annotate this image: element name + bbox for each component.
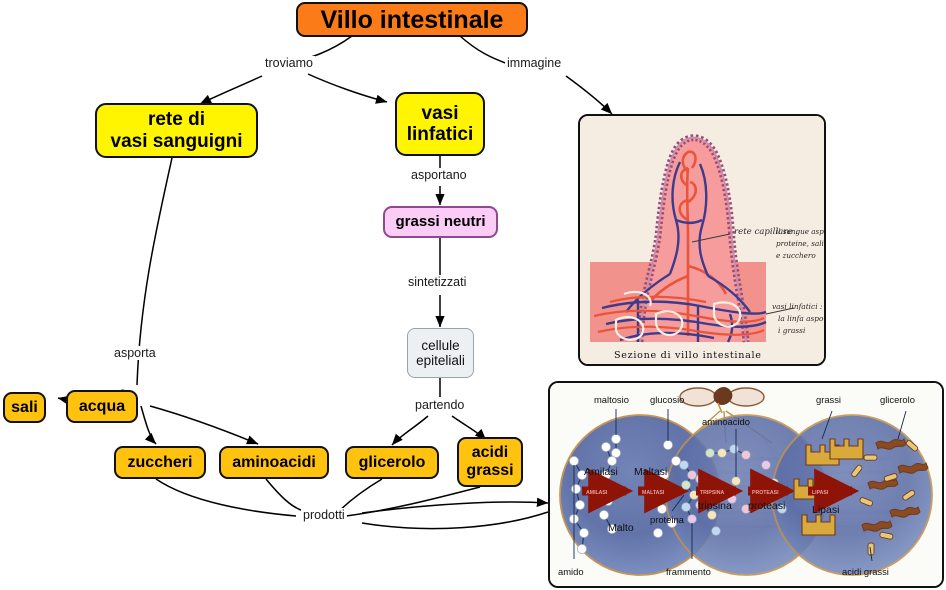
edge-label-troviamo: troviamo: [263, 56, 315, 70]
edge-troviamo-linfatici: [308, 74, 387, 102]
edge-label-prodotti: prodotti: [301, 508, 347, 522]
label-lipasi: Lipasi: [812, 504, 839, 516]
label-grassi: grassi: [816, 394, 841, 405]
edge-troviamo-rete: [200, 76, 262, 104]
label-maltosio: maltosio: [594, 394, 629, 405]
node-acqua[interactable]: acqua: [66, 390, 138, 423]
label-glicerolo: glicerolo: [880, 394, 915, 405]
edge-zuccheri-prodotti: [156, 479, 296, 516]
villus-caption: Sezione di villo intestinale: [614, 350, 762, 361]
node-acidi-grassi[interactable]: acidi grassi: [457, 437, 523, 487]
label-tripsina: tripsina: [698, 500, 732, 512]
edge-label-asporta: asporta: [112, 346, 158, 360]
arrow-label-lipasi: LIPASI: [812, 490, 829, 496]
villus-label-lymph-l3: i grassi: [778, 326, 805, 335]
edge-villo-immagine: [460, 36, 508, 64]
node-zuccheri[interactable]: zuccheri: [114, 446, 206, 479]
label-glucosio: glucosio: [650, 394, 684, 405]
label-proteina: proteina: [650, 514, 685, 525]
label-aminoacido: aminoacido: [702, 416, 750, 427]
edge-label-sintetizzati: sintetizzati: [406, 275, 468, 289]
arrow-label-proteasi: PROTEASI: [752, 490, 779, 496]
node-rete-vasi-sanguigni[interactable]: rete di vasi sanguigni: [95, 103, 258, 158]
arrow-label-maltasi: MALTASI: [642, 490, 665, 496]
arrow-label-tripsina: TRIPSINA: [700, 490, 724, 496]
villus-label-lymph-l2: la linfa asporta: [778, 314, 824, 323]
edge-label-asportano: asportano: [409, 168, 469, 182]
label-acidi-grassi: acidi grassi: [842, 566, 889, 577]
node-villo-intestinale[interactable]: Villo intestinale: [296, 2, 528, 37]
edge-prodotti-digestionimg: [362, 502, 548, 513]
edge-acidigrassi-prodotti: [346, 487, 480, 516]
label-proteasi: proteasi: [748, 500, 785, 512]
node-glicerolo[interactable]: glicerolo: [345, 446, 439, 479]
edge-label-partendo: partendo: [413, 398, 466, 412]
digestion-diagram-image[interactable]: AMILASI MALTASI Amilasi Maltasi Malto: [548, 381, 944, 588]
edge-aminoacidi-prodotti: [266, 479, 304, 511]
edge-asporta-zuccheri: [141, 406, 156, 444]
label-maltasi: Maltasi: [634, 466, 667, 478]
label-frammento: frammento: [666, 566, 711, 577]
concept-map-canvas: troviamo immagine asportano sintetizzati…: [0, 0, 946, 590]
node-grassi-neutri[interactable]: grassi neutri: [383, 206, 498, 238]
villus-label-capillary-l2: il sangue asporta :: [776, 227, 824, 236]
label-malto: Malto: [608, 522, 634, 534]
edge-partendo-glicerolo: [392, 416, 428, 445]
villus-label-capillary-l3: proteine, sali, acqua: [776, 239, 824, 248]
label-amido: amido: [558, 566, 584, 577]
edge-asporta-aminoacidi: [150, 406, 258, 444]
villus-label-lymph-l1: vasi linfatici :: [772, 302, 822, 311]
label-amilasi: Amilasi: [584, 466, 618, 478]
edge-label-immagine: immagine: [505, 56, 563, 70]
villus-section-image[interactable]: rete capillare : il sangue asporta : pro…: [578, 114, 826, 366]
arrow-label-amilasi: AMILASI: [586, 490, 608, 496]
villus-label-capillary-l4: e zucchero: [776, 251, 816, 260]
node-vasi-linfatici[interactable]: vasi linfatici: [395, 92, 485, 156]
node-aminoacidi[interactable]: aminoacidi: [219, 446, 329, 479]
edge-immagine-villusimg: [566, 76, 612, 114]
node-cellule-epiteliali[interactable]: cellule epiteliali: [407, 328, 474, 378]
node-sali[interactable]: sali: [3, 392, 46, 423]
edge-prodotti-digestionimg-2: [362, 512, 548, 529]
